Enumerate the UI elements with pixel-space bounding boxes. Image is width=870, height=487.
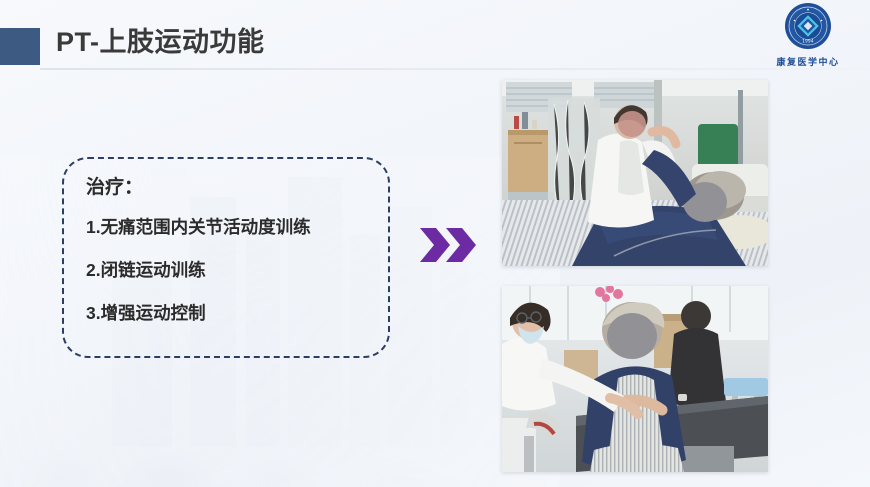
organization-logo: 1994 康复医学中心: [762, 2, 854, 70]
slide-root: PT-上肢运动功能: [0, 0, 870, 487]
title-accent-block: [0, 28, 40, 65]
photo-seated-arm-control-training: [502, 286, 768, 472]
double-chevron-right-icon: [418, 220, 480, 270]
callout-item-3: 3.增强运动控制: [86, 301, 370, 325]
slide-header: PT-上肢运动功能: [0, 0, 870, 76]
treatment-callout-box: 治疗： 1.无痛范围内关节活动度训练 2.闭链运动训练 3.增强运动控制: [62, 157, 390, 358]
logo-caption: 康复医学中心: [762, 55, 854, 68]
photo-bed-shoulder-exercise: [502, 80, 768, 266]
callout-item-2: 2.闭链运动训练: [86, 258, 370, 282]
header-divider: [40, 68, 870, 70]
svg-text:1994: 1994: [802, 38, 814, 43]
callout-item-1: 1.无痛范围内关节活动度训练: [86, 215, 370, 239]
page-title: PT-上肢运动功能: [56, 24, 265, 60]
callout-heading: 治疗：: [86, 175, 370, 201]
hospital-emblem-icon: 1994: [784, 2, 832, 50]
